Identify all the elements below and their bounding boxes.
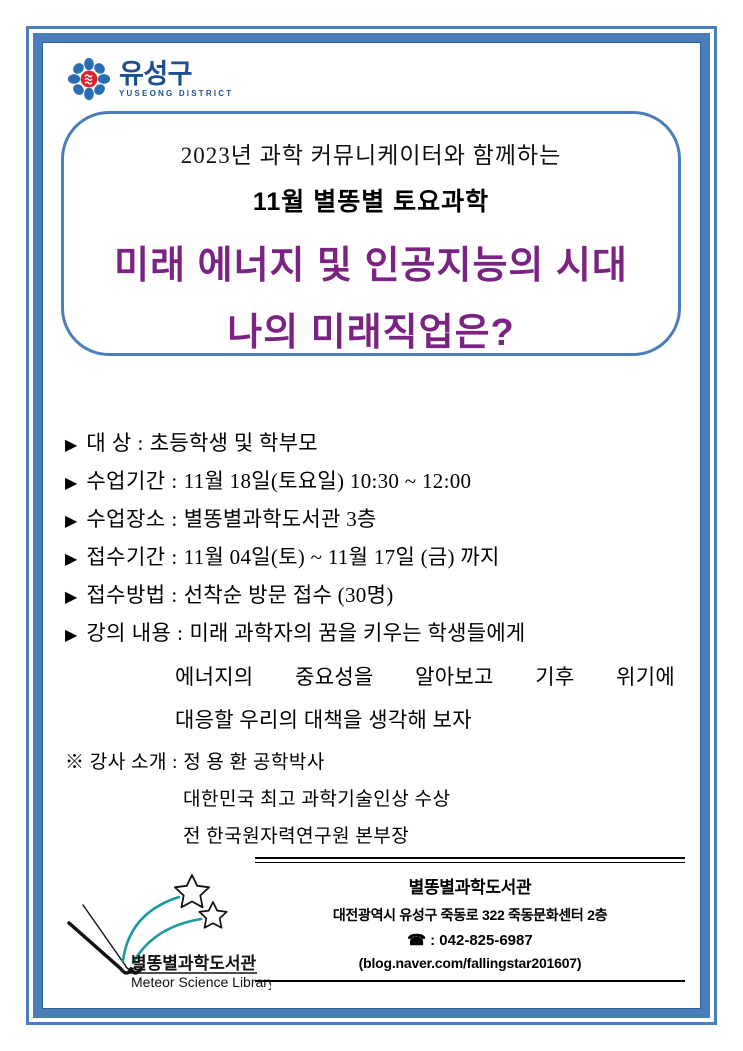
continuation-word: 중요성을: [295, 661, 373, 691]
footer-rule-bottom: [255, 980, 685, 982]
continuation-word: 에너지의: [175, 661, 253, 691]
continuation-word: 위기에: [616, 661, 675, 691]
detail-value: 선착순 방문 접수 (30명): [184, 585, 394, 606]
detail-row: ▶ 강의 내용 : 미래 과학자의 꿈을 키우는 학생들에게: [65, 623, 685, 644]
detail-value: 별똥별과학도서관 3층: [184, 509, 377, 530]
footer-library-name: 별똥별과학도서관: [255, 873, 685, 898]
triangle-bullet-icon: ▶: [65, 590, 77, 606]
detail-row: ▶ 접수기간 : 11월 04일(토) ~ 11월 17일 (금) 까지: [65, 547, 685, 568]
open-book-with-shooting-stars-icon: 별똥별과학도서관 Meteor Science Library: [61, 861, 271, 991]
detail-value: 11월 04일(토) ~ 11월 17일 (금) 까지: [184, 547, 500, 568]
footer-phone: ☎ : 042-825-6987: [255, 931, 685, 949]
instructor-line: 전 한국원자력연구원 본부장: [183, 821, 685, 848]
triangle-bullet-icon: ▶: [65, 476, 77, 492]
title-eyebrow: 2023년 과학 커뮤니케이터와 함께하는: [181, 136, 562, 170]
detail-label: 수업장소 :: [86, 509, 177, 530]
yuseong-district-flower-emblem-icon: [67, 57, 111, 101]
continuation-word: 기후: [535, 661, 574, 691]
continuation-word: 알아보고: [415, 661, 493, 691]
footer-rule-top: [255, 857, 685, 863]
district-logo-text: 유성구 YUSEONG DISTRICT: [119, 61, 233, 98]
detail-row: ▶ 대 상 : 초등학생 및 학부모: [65, 433, 685, 454]
content-continuation-line: 에너지의 중요성을 알아보고 기후 위기에: [175, 661, 675, 691]
triangle-bullet-icon: ▶: [65, 514, 77, 530]
district-logo: 유성구 YUSEONG DISTRICT: [67, 57, 233, 101]
instructor-heading: ※ 강사 소개 : 정 용 환 공학박사: [65, 747, 685, 774]
poster-content: 유성구 YUSEONG DISTRICT 2023년 과학 커뮤니케이터와 함께…: [43, 43, 700, 1008]
detail-label: 대 상 :: [86, 433, 143, 454]
triangle-bullet-icon: ▶: [65, 438, 77, 454]
library-logo-name-ko: 별똥별과학도서관: [131, 954, 256, 973]
footer-address: 대전광역시 유성구 죽동로 322 죽동문화센터 2층: [255, 905, 685, 925]
detail-label: 접수방법 :: [86, 585, 177, 606]
footer-blog-url[interactable]: (blog.naver.com/fallingstar201607): [255, 955, 685, 971]
title-subtitle: 11월 별똥별 토요과학: [253, 182, 489, 218]
detail-label: 접수기간 :: [86, 547, 177, 568]
title-box: 2023년 과학 커뮤니케이터와 함께하는 11월 별똥별 토요과학 미래 에너…: [61, 111, 681, 356]
detail-label: 강의 내용 :: [86, 623, 183, 644]
title-main-line1: 미래 에너지 및 인공지능의 시대: [114, 234, 628, 289]
detail-value: 초등학생 및 학부모: [150, 433, 318, 454]
instructor-line: 대한민국 최고 과학기술인상 수상: [183, 784, 685, 811]
poster-root: 유성구 YUSEONG DISTRICT 2023년 과학 커뮤니케이터와 함께…: [0, 0, 743, 1051]
title-main-line2: 나의 미래직업은?: [227, 301, 515, 356]
library-logo-name-en: Meteor Science Library: [131, 974, 271, 990]
detail-row: ▶ 수업기간 : 11월 18일(토요일) 10:30 ~ 12:00: [65, 471, 685, 492]
triangle-bullet-icon: ▶: [65, 552, 77, 568]
district-name-en: YUSEONG DISTRICT: [119, 90, 233, 98]
poster-footer: 별똥별과학도서관 Meteor Science Library 별똥별과학도서관…: [43, 851, 700, 1011]
detail-row: ▶ 접수방법 : 선착순 방문 접수 (30명): [65, 585, 685, 606]
detail-row: ▶ 수업장소 : 별똥별과학도서관 3층: [65, 509, 685, 530]
content-continuation-line: 대응할 우리의 대책을 생각해 보자: [175, 704, 685, 734]
footer-contact-block: 별똥별과학도서관 대전광역시 유성구 죽동로 322 죽동문화센터 2층 ☎ :…: [255, 857, 685, 982]
detail-value: 11월 18일(토요일) 10:30 ~ 12:00: [184, 471, 472, 492]
details-list: ▶ 대 상 : 초등학생 및 학부모 ▶ 수업기간 : 11월 18일(토요일)…: [65, 433, 685, 858]
detail-label: 수업기간 :: [86, 471, 177, 492]
district-name-ko: 유성구: [119, 61, 192, 88]
detail-value: 미래 과학자의 꿈을 키우는 학생들에게: [189, 623, 525, 644]
triangle-bullet-icon: ▶: [65, 628, 77, 644]
